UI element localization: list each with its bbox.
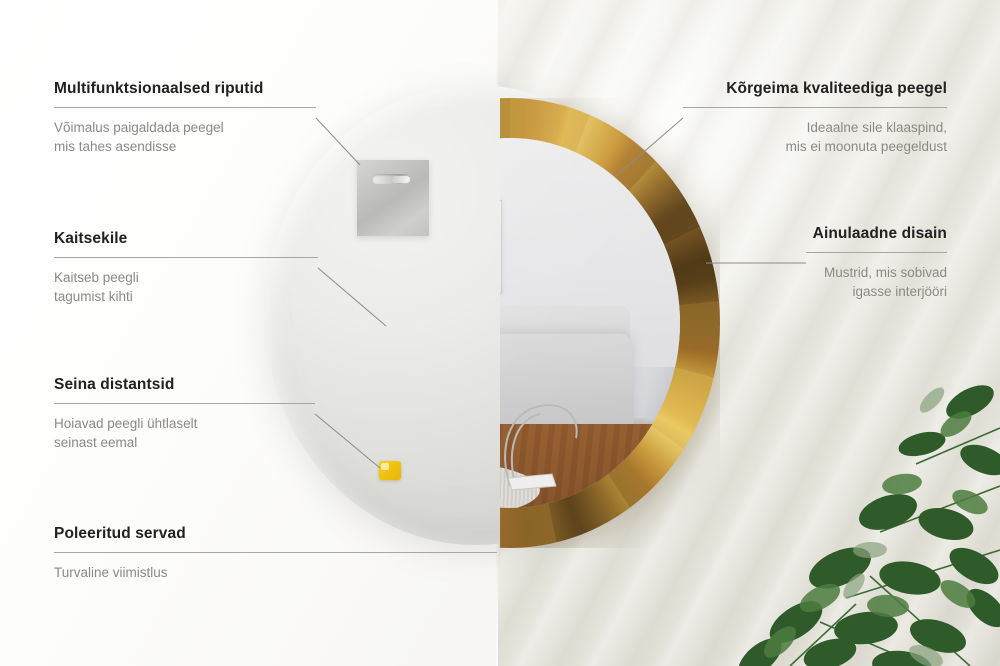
callout-description: Mustrid, mis sobivad igasse interjööri — [806, 263, 947, 301]
callout-korgeima-kvaliteediga-peegel: Kõrgeima kvaliteediga peegel Ideaalne si… — [683, 80, 947, 156]
callout-rule — [54, 403, 315, 404]
infographic-canvas: Multifunktsionaalsed riputid Võimalus pa… — [0, 0, 1000, 666]
callout-title: Kaitsekile — [54, 230, 318, 248]
callout-title: Multifunktsionaalsed riputid — [54, 80, 316, 98]
callout-multifunktsionaalsed-riputid: Multifunktsionaalsed riputid Võimalus pa… — [54, 80, 316, 156]
callout-title: Ainulaadne disain — [806, 225, 947, 243]
callout-description: Hoiavad peegli ühtlaselt seinast eemal — [54, 414, 315, 452]
callout-title: Kõrgeima kvaliteediga peegel — [683, 80, 947, 98]
callout-description: Kaitseb peegli tagumist kihti — [54, 268, 318, 306]
mirror-hanger-plate — [357, 160, 429, 236]
line-art-face-icon — [500, 201, 501, 293]
callout-rule — [806, 252, 947, 253]
callout-seina-distantsid: Seina distantsid Hoiavad peegli ühtlasel… — [54, 376, 315, 452]
callout-rule — [54, 552, 497, 553]
mirror-product-photo — [500, 98, 720, 548]
mirror-glass — [500, 138, 680, 508]
callout-description: Võimalus paigaldada peegel mis tahes ase… — [54, 118, 316, 156]
callout-kaitsekile: Kaitsekile Kaitseb peegli tagumist kihti — [54, 230, 318, 306]
reflected-poster-frame — [500, 200, 502, 294]
wall-spacer-highlight — [381, 463, 389, 470]
callout-rule — [54, 257, 318, 258]
callout-title: Seina distantsid — [54, 376, 315, 394]
callout-description: Ideaalne sile klaaspind, mis ei moonuta … — [683, 118, 947, 156]
callout-ainulaadne-disain: Ainulaadne disain Mustrid, mis sobivad i… — [806, 225, 947, 301]
reflected-wire-chair — [500, 390, 586, 494]
callout-rule — [54, 107, 316, 108]
callout-rule — [683, 107, 947, 108]
callout-poleeritud-servad: Poleeritud servad Turvaline viimistlus — [54, 525, 497, 582]
callout-title: Poleeritud servad — [54, 525, 497, 543]
callout-description: Turvaline viimistlus — [54, 563, 497, 582]
hanger-slot-secondary-icon — [392, 176, 410, 183]
